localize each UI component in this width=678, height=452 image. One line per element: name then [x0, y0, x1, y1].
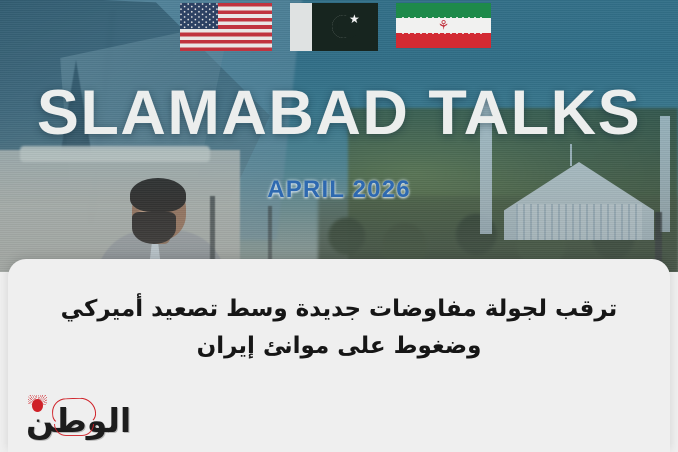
- article-headline: ترقب لجولة مفاوضات جديدة وسط تصعيد أميرك…: [34, 291, 644, 366]
- pakistan-flag: [290, 3, 378, 51]
- iran-emblem-icon: ⚘: [438, 19, 450, 32]
- headline-line-1: ترقب لجولة مفاوضات جديدة وسط تصعيد أميرك…: [34, 291, 644, 328]
- al-watan-logo[interactable]: الوطن: [26, 396, 126, 440]
- headline-line-2: وضغوط على موانئ إيران: [34, 328, 644, 365]
- us-canton: [180, 3, 218, 29]
- hero-date: APRIL 2026: [267, 176, 411, 204]
- flags-row: ⚘: [180, 3, 498, 51]
- pakistan-white-band: [290, 3, 312, 51]
- logo-red-underline: [54, 424, 94, 436]
- hero-title: SLAMABAD TALKS: [0, 77, 678, 149]
- iran-flag: ⚘: [396, 3, 491, 48]
- logo-red-swoop: [52, 397, 97, 425]
- beard: [132, 212, 176, 244]
- us-stars: [180, 3, 218, 29]
- mosque-prayer-hall: [504, 162, 654, 240]
- hero-image: ⚘ SLAMABAD TALKS APRIL 2026: [0, 0, 678, 272]
- hair: [130, 178, 186, 212]
- iran-red-band: [396, 33, 491, 48]
- faisal-mosque: [486, 150, 656, 254]
- news-card-page: ⚘ SLAMABAD TALKS APRIL 2026 ترقب لجولة م…: [0, 0, 678, 452]
- logo-red-sun-icon: [32, 399, 43, 412]
- article-card: ترقب لجولة مفاوضات جديدة وسط تصعيد أميرك…: [8, 259, 670, 452]
- united-states-flag: [180, 3, 272, 51]
